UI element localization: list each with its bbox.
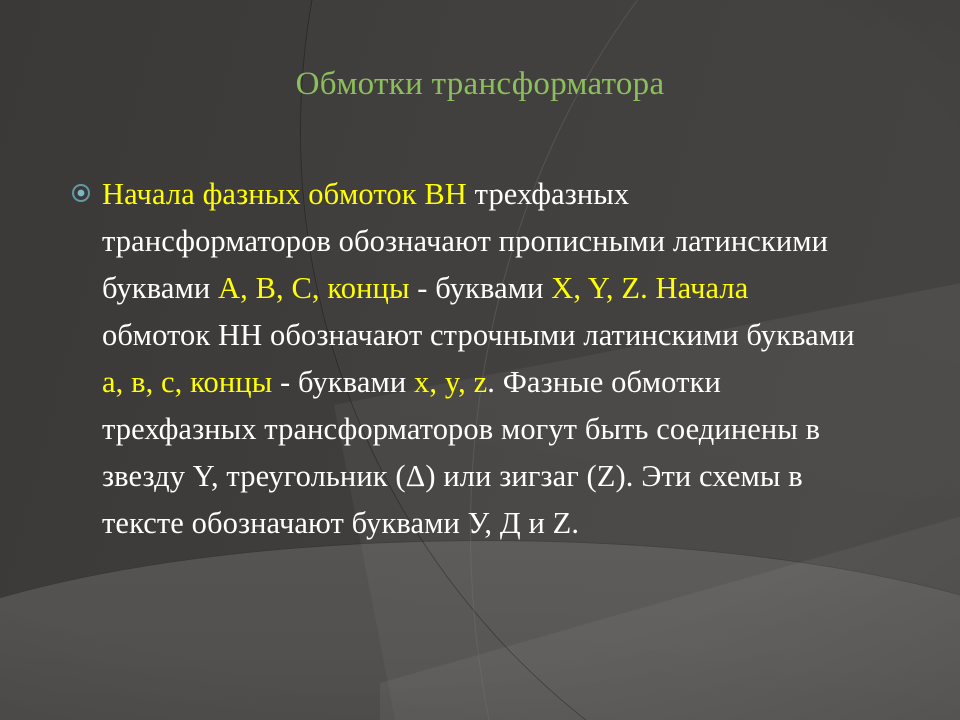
highlighted-run: x, y, z <box>414 365 487 399</box>
slide-title: Обмотки трансформатора <box>0 64 960 104</box>
highlighted-run: Начала фазных обмоток ВН <box>102 177 467 211</box>
slide-body: Начала фазных обмоток ВН трехфазных тран… <box>70 171 860 547</box>
plain-run: обмоток НН обозначают строчными латински… <box>102 318 855 352</box>
plain-run: - буквами <box>410 271 552 305</box>
bullet-paragraph: Начала фазных обмоток ВН трехфазных тран… <box>102 171 860 547</box>
highlighted-run: X, Y, Z. Начала <box>551 271 748 305</box>
slide-canvas: Обмотки трансформатора Начала фазных обм… <box>0 0 960 720</box>
highlighted-run: А, В, С, концы <box>218 271 410 305</box>
highlighted-run: а, в, с, концы <box>102 365 272 399</box>
plain-run: - буквами <box>272 365 414 399</box>
ring-bullet-icon <box>72 184 90 202</box>
bullet-list-item: Начала фазных обмоток ВН трехфазных тран… <box>70 171 860 547</box>
